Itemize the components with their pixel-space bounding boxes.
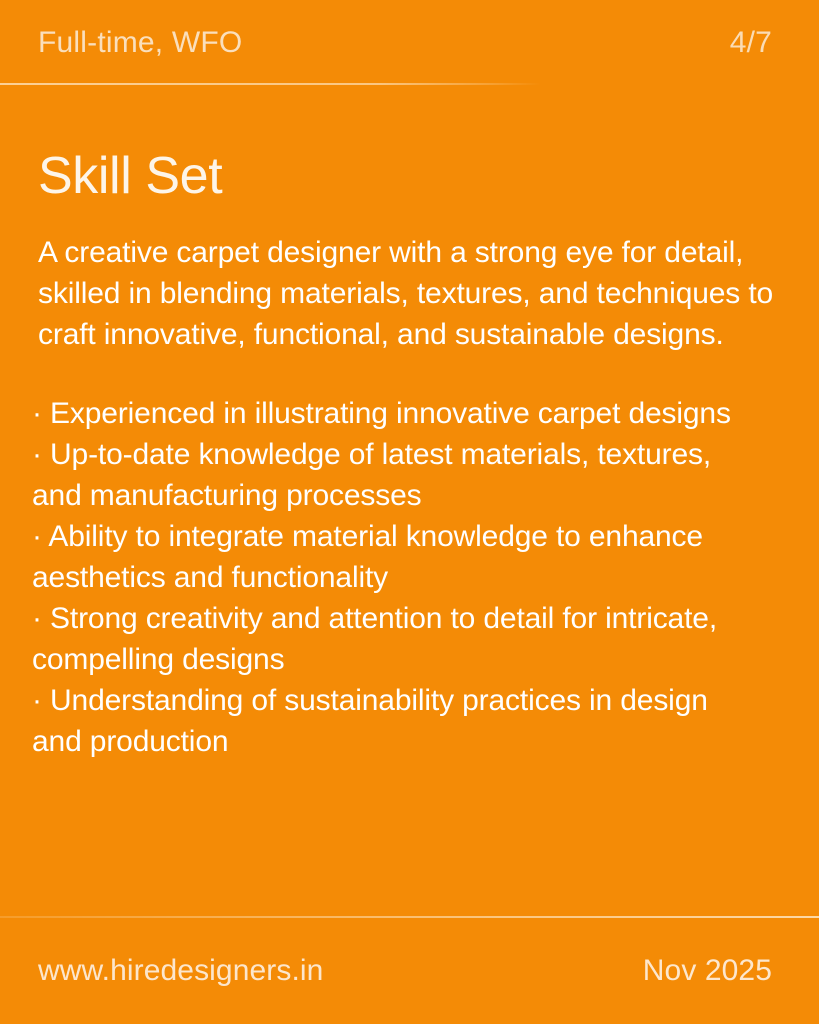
list-item-label: Up-to-date knowledge of latest materials… xyxy=(32,438,711,512)
list-item: · Ability to integrate material knowledg… xyxy=(32,516,752,598)
list-item: · Up-to-date knowledge of latest materia… xyxy=(32,434,752,516)
employment-type-label: Full-time, WFO xyxy=(38,28,242,58)
page-title: Skill Set xyxy=(38,85,779,204)
bullet-marker-icon: · xyxy=(32,397,42,430)
list-item-label: Ability to integrate material knowledge … xyxy=(32,520,703,594)
list-item-label: Strong creativity and attention to detai… xyxy=(32,602,717,676)
bullet-marker-icon: · xyxy=(32,438,42,471)
publish-date: Nov 2025 xyxy=(643,956,772,986)
bullet-marker-icon: · xyxy=(32,684,42,717)
list-item: · Strong creativity and attention to det… xyxy=(32,598,752,680)
slide-footer: www.hiredesigners.in Nov 2025 xyxy=(0,918,819,1024)
slide-card: Full-time, WFO 4/7 Skill Set A creative … xyxy=(0,0,819,1024)
slide-body: Skill Set A creative carpet designer wit… xyxy=(0,85,819,916)
bullet-marker-icon: · xyxy=(32,602,42,635)
list-item: · Experienced in illustrating innovative… xyxy=(32,393,752,434)
slide-counter: 4/7 xyxy=(730,28,772,58)
list-item-label: Understanding of sustainability practice… xyxy=(32,684,708,758)
bullet-marker-icon: · xyxy=(32,520,42,553)
skills-list: · Experienced in illustrating innovative… xyxy=(32,355,779,762)
slide-header: Full-time, WFO 4/7 xyxy=(0,0,819,58)
list-item: · Understanding of sustainability practi… xyxy=(32,680,752,762)
website-link[interactable]: www.hiredesigners.in xyxy=(38,956,323,986)
summary-paragraph: A creative carpet designer with a strong… xyxy=(38,204,779,355)
list-item-label: Experienced in illustrating innovative c… xyxy=(50,397,731,430)
